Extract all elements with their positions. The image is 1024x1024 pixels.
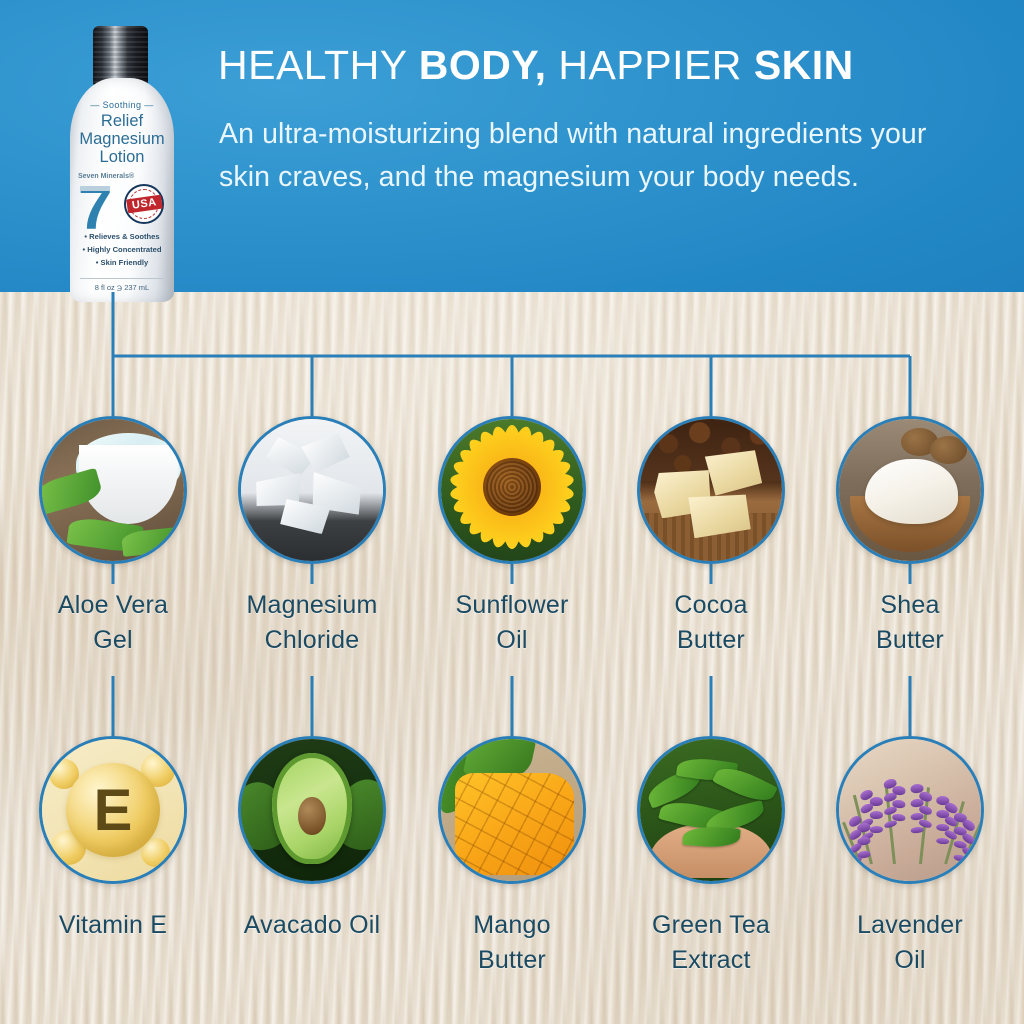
label-line-1: Vitamin E <box>8 908 218 943</box>
ingredient-label-avocado-oil: Avacado Oil <box>207 908 417 943</box>
page-subtitle: An ultra-moisturizing blend with natural… <box>219 113 949 199</box>
ingredient-circle-vitamin-e[interactable]: E <box>39 736 187 884</box>
label-line-1: Magnesium <box>207 588 417 623</box>
ingredient-circle-cocoa-butter[interactable] <box>637 416 785 564</box>
bottle-body: — Soothing — Relief Magnesium Lotion Sev… <box>70 78 174 302</box>
bottle-name-line-2: Magnesium <box>70 130 174 149</box>
ingredient-circle-mango-butter[interactable] <box>438 736 586 884</box>
made-in-usa-badge: USA <box>124 184 164 224</box>
label-line-2: Oil <box>407 623 617 658</box>
ingredient-circle-shea-butter[interactable] <box>836 416 984 564</box>
ingredient-label-vitamin-e: Vitamin E <box>8 908 218 943</box>
page-title: HEALTHY BODY, HAPPIER SKIN <box>218 42 854 89</box>
green-tea-extract-image <box>640 739 782 881</box>
bottle-bullet-1: • Relieves & Soothes <box>70 230 174 243</box>
title-word-skin: SKIN <box>754 42 854 88</box>
ingredient-label-mango-butter: Mango Butter <box>407 908 617 978</box>
sunflower-oil-image <box>441 419 583 561</box>
label-line-1: Avacado Oil <box>207 908 417 943</box>
label-line-2: Chloride <box>207 623 417 658</box>
label-line-1: Shea <box>805 588 1015 623</box>
vitamin-e-glyph: E <box>42 739 184 881</box>
label-line-2: Oil <box>805 943 1015 978</box>
product-bottle: — Soothing — Relief Magnesium Lotion Sev… <box>64 26 182 302</box>
shea-butter-image <box>839 419 981 561</box>
label-line-2: Extract <box>606 943 816 978</box>
magnesium-chloride-image <box>241 419 383 561</box>
ingredient-circle-sunflower-oil[interactable] <box>438 416 586 564</box>
ingredient-circle-lavender-oil[interactable] <box>836 736 984 884</box>
lavender-oil-image <box>839 739 981 881</box>
label-line-2: Butter <box>407 943 617 978</box>
label-line-1: Lavender <box>805 908 1015 943</box>
ingredient-label-green-tea-extract: Green Tea Extract <box>606 908 816 978</box>
ingredient-circle-aloe-vera-gel[interactable] <box>39 416 187 564</box>
mango-butter-image <box>441 739 583 881</box>
ingredient-circle-green-tea-extract[interactable] <box>637 736 785 884</box>
label-line-1: Aloe Vera <box>8 588 218 623</box>
label-line-1: Sunflower <box>407 588 617 623</box>
ingredient-label-shea-butter: Shea Butter <box>805 588 1015 658</box>
title-word-body: BODY, <box>419 42 547 88</box>
label-line-1: Mango <box>407 908 617 943</box>
avocado-oil-image <box>241 739 383 881</box>
bottle-cap <box>93 26 148 86</box>
ingredient-label-lavender-oil: Lavender Oil <box>805 908 1015 978</box>
bottle-name-line-1: Relief <box>70 112 174 131</box>
ingredient-label-sunflower-oil: Sunflower Oil <box>407 588 617 658</box>
vitamin-e-image: E <box>42 739 184 881</box>
ingredient-circle-magnesium-chloride[interactable] <box>238 416 386 564</box>
title-word-happier: HAPPIER <box>547 42 754 88</box>
bottle-name-line-3: Lotion <box>70 148 174 167</box>
label-line-2: Butter <box>805 623 1015 658</box>
bottle-bullet-list: • Relieves & Soothes • Highly Concentrat… <box>70 230 174 269</box>
title-word-healthy: HEALTHY <box>218 42 419 88</box>
aloe-vera-gel-image <box>42 419 184 561</box>
bottle-bullet-2: • Highly Concentrated <box>70 243 174 256</box>
ingredient-circle-avocado-oil[interactable] <box>238 736 386 884</box>
bottle-bullet-3: • Skin Friendly <box>70 256 174 269</box>
label-line-1: Cocoa <box>606 588 816 623</box>
bottle-soothing-text: — Soothing — <box>70 100 174 110</box>
bottle-volume-text: 8 fl oz ℈ 237 mL <box>80 278 164 292</box>
ingredient-label-cocoa-butter: Cocoa Butter <box>606 588 816 658</box>
ingredient-label-aloe-vera-gel: Aloe Vera Gel <box>8 588 218 658</box>
label-line-1: Green Tea <box>606 908 816 943</box>
infographic-page: HEALTHY BODY, HAPPIER SKIN An ultra-mois… <box>0 0 1024 1024</box>
ingredient-label-magnesium-chloride: Magnesium Chloride <box>207 588 417 658</box>
label-line-2: Butter <box>606 623 816 658</box>
usa-badge-text: USA <box>126 195 162 214</box>
cocoa-butter-image <box>640 419 782 561</box>
label-line-2: Gel <box>8 623 218 658</box>
